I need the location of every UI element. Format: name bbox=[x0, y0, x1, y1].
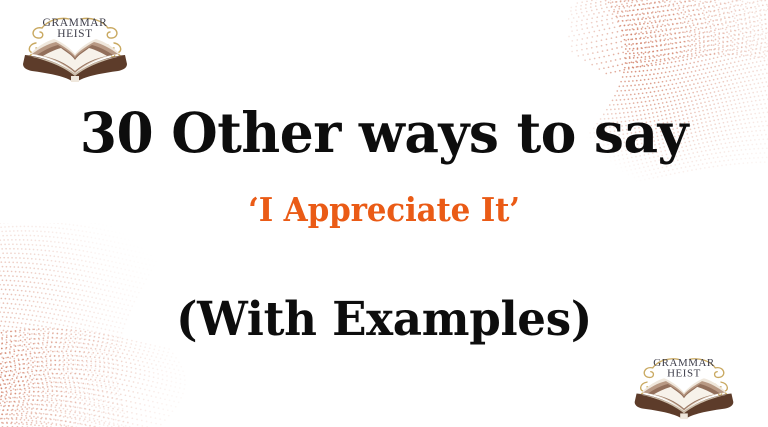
grammar-heist-logo-top-left: GRAMMAR HEIST bbox=[14, 6, 136, 84]
headline-container: 30 Other ways to say bbox=[0, 104, 768, 162]
quoted-phrase: ‘I Appreciate It’ bbox=[23, 192, 745, 228]
with-examples-label: (With Examples) bbox=[15, 294, 752, 346]
subtitle-container: ‘I Appreciate It’ bbox=[0, 192, 768, 228]
logo-line2: HEIST bbox=[57, 28, 93, 40]
halftone-dot-wave-icon bbox=[568, 0, 768, 196]
footline-container: (With Examples) bbox=[0, 294, 768, 346]
open-book-icon: GRAMMAR HEIST bbox=[626, 347, 742, 421]
page-title: 30 Other ways to say bbox=[12, 104, 757, 162]
logo-line2: HEIST bbox=[667, 367, 701, 379]
poster-canvas: GRAMMAR HEIST bbox=[0, 0, 768, 427]
open-book-icon: GRAMMAR HEIST bbox=[14, 6, 136, 84]
grammar-heist-logo-bottom-right: GRAMMAR HEIST bbox=[626, 347, 742, 421]
dotted-wave-top-right bbox=[568, 0, 768, 196]
